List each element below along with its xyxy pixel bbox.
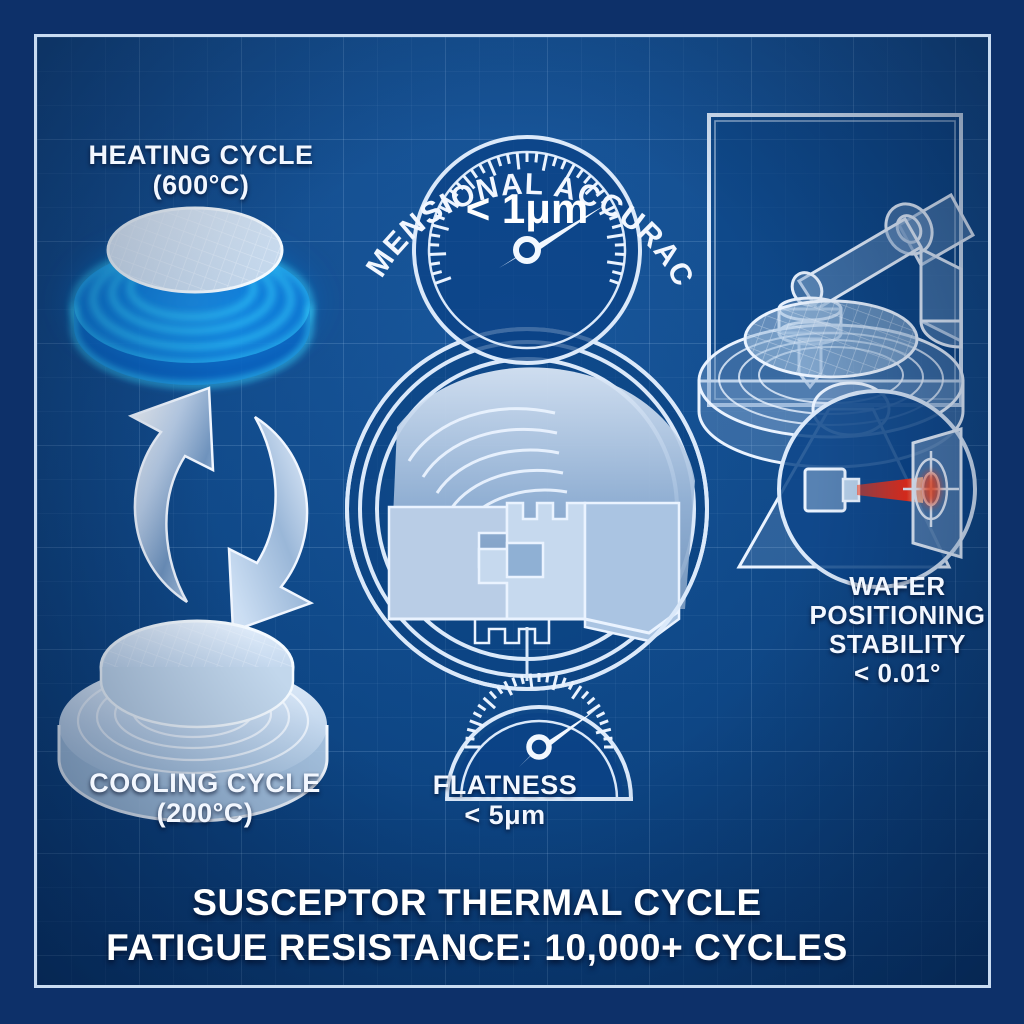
- cooling-cycle-label: COOLING CYCLE (200°C): [50, 768, 360, 828]
- blueprint-infographic: DIMENSIONAL ACCURACY < 1μm HEATING CYCLE…: [0, 0, 1024, 1024]
- flatness-label: FLATNESS < 5μm: [390, 770, 620, 830]
- wafer-positioning-label: WAFER POSITIONING STABILITY < 0.01°: [790, 572, 1005, 688]
- heating-cycle-label: HEATING CYCLE (600°C): [46, 140, 356, 200]
- page-title: SUSCEPTOR THERMAL CYCLE FATIGUE RESISTAN…: [62, 880, 892, 970]
